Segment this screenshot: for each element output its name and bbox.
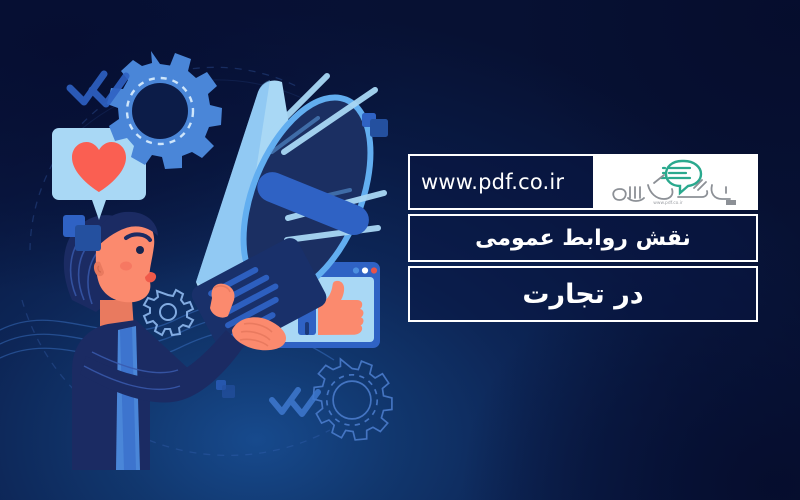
headline-line-2: در تجارت (410, 279, 756, 310)
website-url[interactable]: www.pdf.co.ir (410, 156, 593, 208)
headline-row-2: در تجارت (408, 266, 758, 322)
double-check-bottom (272, 390, 318, 414)
square-pair-small (216, 380, 235, 398)
logo-microtext: www.pdf.co.ir (653, 200, 683, 206)
url-logo-row: www.pdf.co.ir (408, 154, 758, 210)
headline-row-1: نقش روابط عمومی (408, 214, 758, 262)
info-panel: www.pdf.co.ir (408, 154, 758, 322)
brand-logo[interactable]: www.pdf.co.ir (593, 156, 756, 208)
headline-line-1: نقش روابط عمومی (410, 226, 756, 251)
banner-canvas: www.pdf.co.ir (0, 0, 800, 500)
gear-outline-small (313, 359, 392, 440)
pdf-co-ir-logo-icon: www.pdf.co.ir (606, 157, 746, 207)
